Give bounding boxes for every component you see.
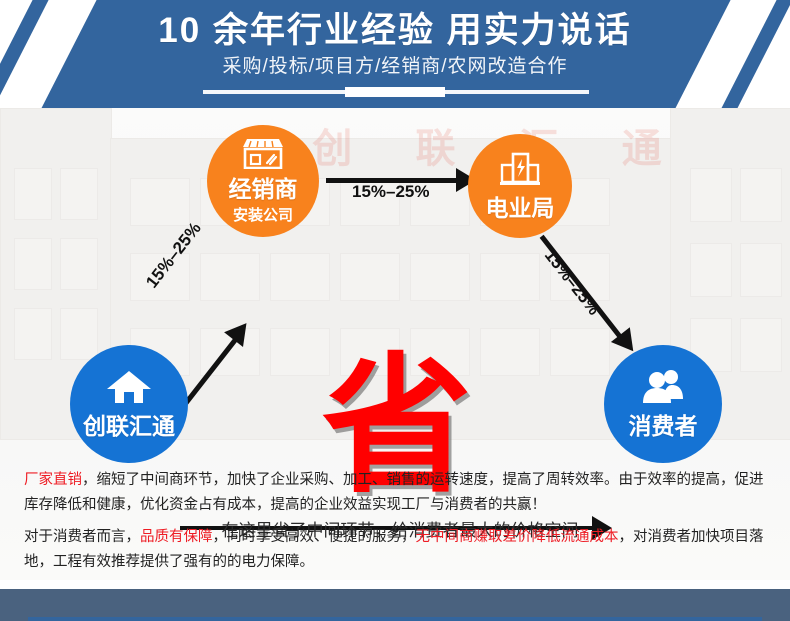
bg-window <box>14 168 52 220</box>
node-dealer-sublabel: 安装公司 <box>233 204 293 225</box>
node-dealer-label: 经销商 <box>229 177 298 202</box>
paragraph-one-body: ，缩短了中间商环节，加快了企业采购、加工、销售的运转速度，提高了周转效率。由于效… <box>24 472 764 513</box>
node-consumer[interactable]: 消费者 <box>604 345 722 463</box>
header-subtitle: 采购/投标/项目方/经销商/农网改造合作 <box>0 54 790 80</box>
edge-label-dealer-to-bureau: 15%–25% <box>352 182 430 202</box>
paragraph-two: 对于消费者而言，品质有保障，同时享受高效、便捷的服务，无中间商赚取差价降低流通成… <box>24 525 772 575</box>
shop-icon <box>240 137 286 174</box>
page-root: 10 余年行业经验 用实力说话 采购/投标/项目方/经销商/农网改造合作 <box>0 0 790 621</box>
bg-window <box>740 243 782 297</box>
paragraph-one-highlight: 厂家直销 <box>24 472 82 488</box>
bg-window <box>60 168 98 220</box>
bg-window <box>690 243 732 297</box>
page-header: 10 余年行业经验 用实力说话 采购/投标/项目方/经销商/农网改造合作 <box>0 0 790 108</box>
bg-window <box>60 238 98 290</box>
bg-window <box>130 178 190 226</box>
node-power-bureau[interactable]: 电业局 <box>468 134 572 238</box>
power-building-icon <box>498 151 542 192</box>
paragraph-two-seg-1: 对于消费者而言， <box>24 529 140 545</box>
paragraph-two-seg-2: ，同时享受高效、便捷的服务， <box>213 529 416 545</box>
paragraph-one: 厂家直销，缩短了中间商环节，加快了企业采购、加工、销售的运转速度，提高了周转效率… <box>24 468 772 518</box>
bg-window <box>14 308 52 360</box>
bg-window <box>14 238 52 290</box>
bg-window <box>740 318 782 372</box>
bg-window <box>60 308 98 360</box>
users-icon <box>639 369 687 410</box>
paragraph-two-highlight-1: 品质有保障 <box>140 529 213 545</box>
bg-window <box>480 328 540 376</box>
header-divider-center <box>345 87 445 97</box>
paragraph-two-highlight-2: 无中间商赚取差价降低流通成本 <box>416 529 619 545</box>
bg-window <box>270 253 330 301</box>
bg-window <box>480 253 540 301</box>
node-power-bureau-label: 电业局 <box>486 196 555 221</box>
bg-window <box>340 253 400 301</box>
bg-window <box>200 253 260 301</box>
footer-accent-rule <box>28 617 762 621</box>
bg-window <box>550 328 610 376</box>
node-company-label: 创联汇通 <box>83 414 175 439</box>
node-dealer[interactable]: 经销商 安装公司 <box>207 125 319 237</box>
bg-window <box>410 253 470 301</box>
header-text-block: 10 余年行业经验 用实力说话 采购/投标/项目方/经销商/农网改造合作 <box>0 0 790 80</box>
node-company[interactable]: 创联汇通 <box>70 345 188 463</box>
node-consumer-label: 消费者 <box>629 414 698 439</box>
bg-window <box>690 168 732 222</box>
header-title: 10 余年行业经验 用实力说话 <box>0 9 790 53</box>
home-icon <box>106 369 152 410</box>
bg-window <box>740 168 782 222</box>
